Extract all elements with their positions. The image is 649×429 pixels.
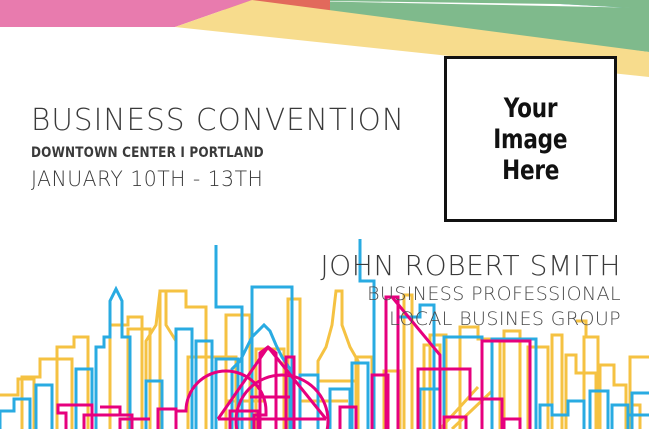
image-placeholder-box[interactable]: Your Image Here: [444, 56, 617, 222]
ribbon-band-red-taper: [160, 0, 300, 11]
event-dates: JANUARY 10TH - 13TH: [31, 166, 401, 192]
image-placeholder-line-1: Your: [504, 93, 558, 124]
event-title: BUSINESS CONVENTION: [31, 104, 405, 138]
ribbon-white-cut: [0, 27, 190, 34]
ribbon-band-pink: [0, 0, 252, 27]
attendee-organization: LOCAL BUSINES GROUP: [320, 307, 621, 332]
attendee-info-block: JOHN ROBERT SMITH BUSINESS PROFESSIONAL …: [320, 250, 621, 332]
ribbon-band-green-body: [252, 0, 649, 52]
image-placeholder-line-2: Image: [493, 124, 567, 155]
attendee-name: JOHN ROBERT SMITH: [320, 250, 621, 282]
attendee-role: BUSINESS PROFESSIONAL: [320, 282, 621, 307]
ribbon-band-blue: [560, 0, 649, 9]
event-info-block: BUSINESS CONVENTION DOWNTOWN CENTER I PO…: [31, 104, 413, 192]
ribbon-band-red: [160, 0, 330, 14]
event-venue: DOWNTOWN CENTER I PORTLAND: [31, 143, 359, 163]
event-badge-poster: Your Image Here BUSINESS CONVENTION DOWN…: [0, 0, 649, 429]
image-placeholder-line-3: Here: [502, 155, 559, 186]
ribbon-band-green: [252, 0, 649, 48]
